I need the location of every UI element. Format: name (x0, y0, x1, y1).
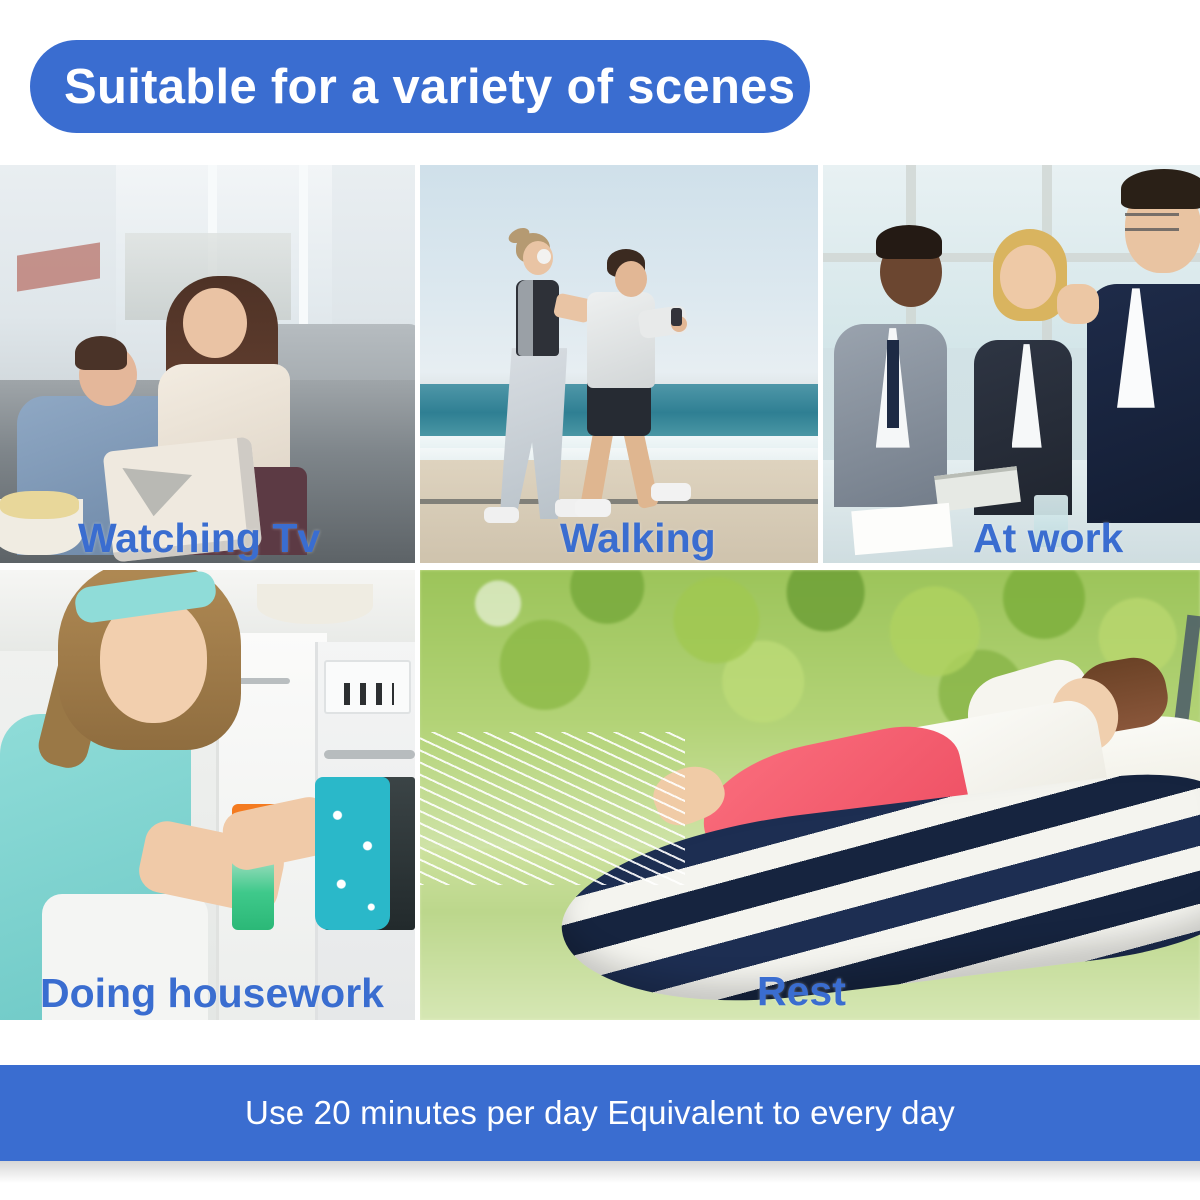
housework-photo (0, 570, 415, 1020)
polka-dot-cloth-shape (315, 777, 390, 930)
watching-tv-photo (0, 165, 415, 563)
man-top-shape (587, 292, 655, 388)
water-bottle-shape (671, 308, 682, 326)
woman-head-shape (183, 288, 247, 358)
scene-label-at-work: At work (973, 518, 1123, 559)
infographic-page: Suitable for a variety of scenes (0, 0, 1200, 1200)
man-hair-shape (876, 225, 942, 259)
oven-handle-shape (324, 750, 415, 759)
scene-label-watching-tv: Watching Tv (78, 518, 320, 559)
woman-top-highlight (518, 280, 534, 356)
walking-photo (420, 165, 818, 563)
scene-tile-rest: Rest (420, 570, 1200, 1020)
page-title: Suitable for a variety of scenes (30, 59, 795, 115)
man-shorts-shape (587, 380, 651, 436)
mixing-bowl-shape (257, 584, 373, 625)
scene-label-rest: Rest (757, 971, 846, 1012)
scene-tile-at-work: At work (823, 165, 1200, 563)
scene-label-doing-housework: Doing housework (40, 973, 384, 1014)
at-work-photo (823, 165, 1200, 563)
footer-text: Use 20 minutes per day Equivalent to eve… (245, 1094, 955, 1132)
boardwalk-rail-shape (420, 499, 818, 504)
man-head-shape (615, 261, 647, 297)
rest-photo (420, 570, 1200, 1020)
cabinet-handle-shape (237, 678, 291, 684)
hammock-ropes-shape (420, 732, 685, 885)
outdoor-roof-shape (17, 242, 100, 291)
scene-tile-walking: Walking (420, 165, 818, 563)
scene-grid: Watching Tv (0, 165, 1200, 1020)
necktie-shape (887, 340, 899, 428)
scene-tile-doing-housework: Doing housework (0, 570, 415, 1020)
woman-shoe-shape (484, 507, 520, 523)
popcorn-shape (0, 491, 79, 519)
man-shoe-shape (651, 483, 691, 501)
document-shape (851, 503, 952, 555)
headphone-shape (537, 249, 551, 264)
woman-head-shape (1000, 245, 1056, 309)
colleague-hair-shape (1121, 169, 1200, 209)
footer-banner: Use 20 minutes per day Equivalent to eve… (0, 1065, 1200, 1161)
man-hair-shape (75, 336, 127, 370)
eyeglasses-shape (1125, 213, 1179, 231)
oven-knobs-shape (344, 683, 394, 706)
scene-label-walking: Walking (560, 518, 716, 559)
gesturing-hand-shape (1057, 284, 1099, 324)
footer-shadow (0, 1161, 1200, 1183)
header-banner: Suitable for a variety of scenes (30, 40, 810, 133)
scene-tile-watching-tv: Watching Tv (0, 165, 415, 563)
